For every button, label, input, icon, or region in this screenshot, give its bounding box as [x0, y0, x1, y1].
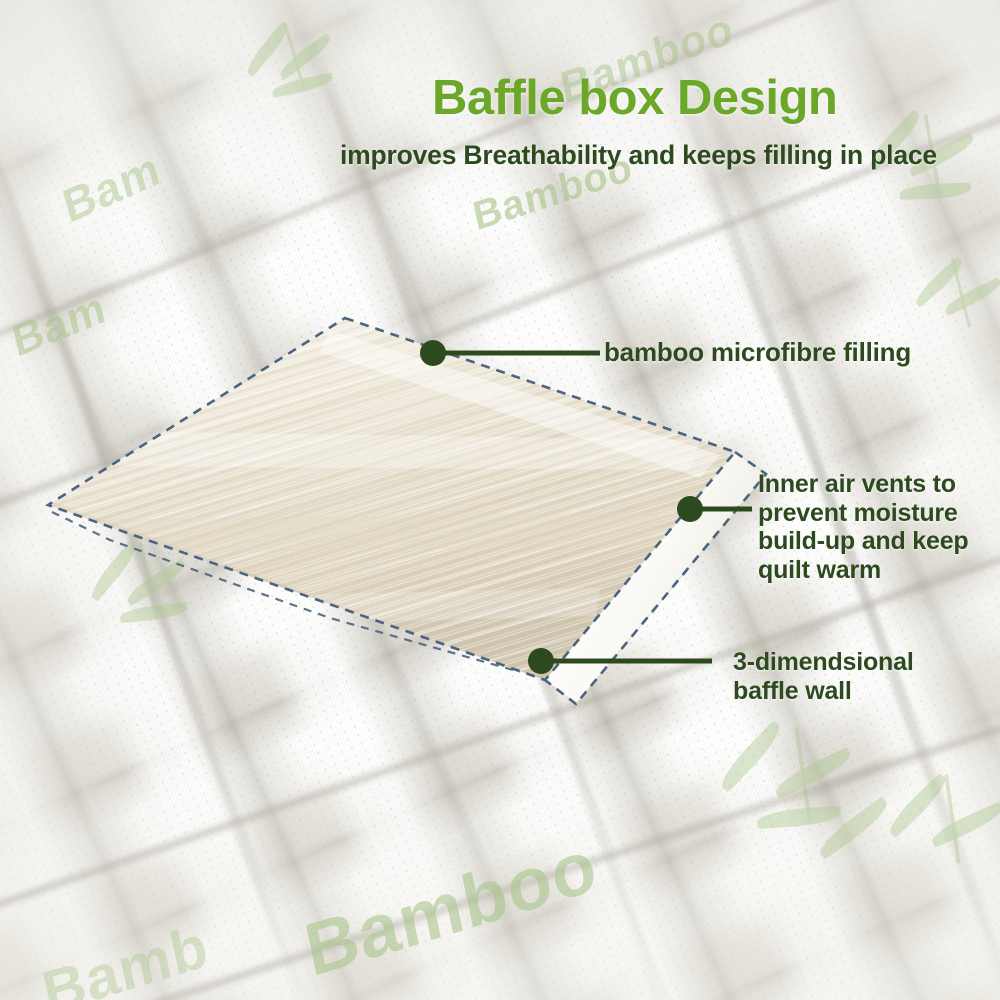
callout-line: bamboo microfibre filling — [604, 338, 911, 368]
callout-bamboo-microfibre-filling: bamboo microfibre filling — [604, 338, 911, 368]
callout-line: quilt warm — [758, 556, 988, 585]
callout-3-dimensional-baffle-wall: 3-dimendsional baffle wall — [733, 648, 983, 705]
callout-dot-filling — [420, 340, 446, 366]
page-title: Baffle box Design — [432, 70, 837, 126]
callout-line: prevent moisture — [758, 499, 988, 528]
callout-line: baffle wall — [733, 677, 983, 706]
callout-line: Inner air vents to — [758, 470, 988, 499]
callout-line: build-up and keep — [758, 527, 988, 556]
page-subtitle: improves Breathability and keeps filling… — [340, 140, 937, 171]
callout-line: 3-dimendsional — [733, 648, 983, 677]
callout-dot-air-vents — [677, 496, 703, 522]
callout-inner-air-vents: Inner air vents to prevent moisture buil… — [758, 470, 988, 584]
product-infographic: BambooBambooBamBamBambooBamb — [0, 0, 1000, 1000]
callout-dot-baffle-wall — [528, 648, 554, 674]
